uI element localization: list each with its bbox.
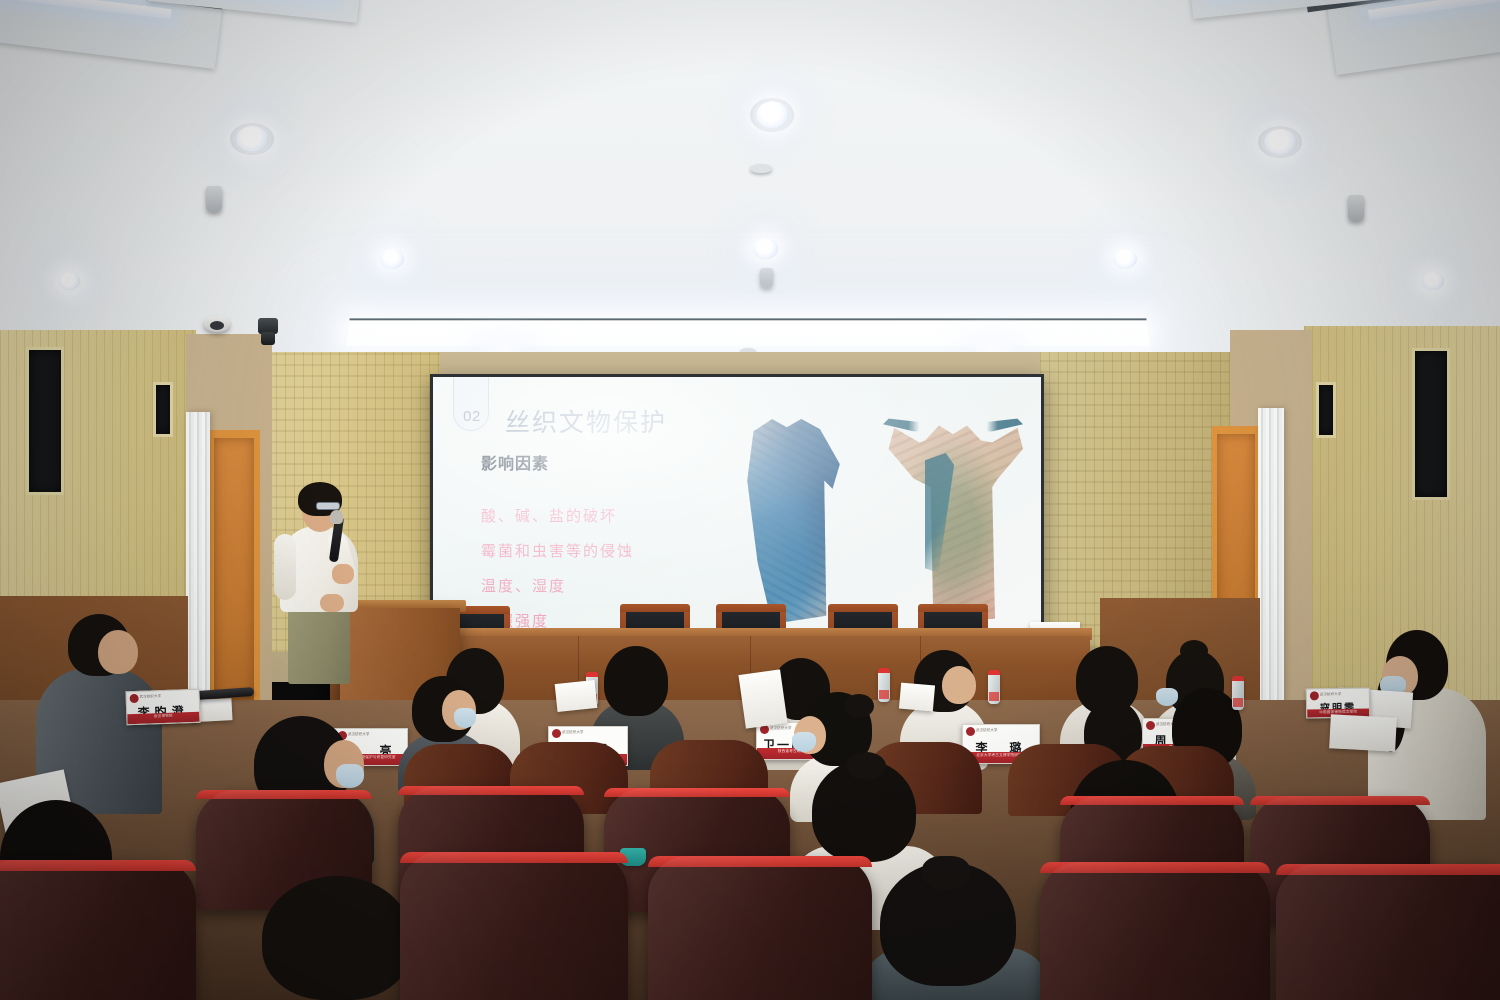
placard-4-logo-mark bbox=[966, 727, 975, 736]
placard-2-logo-mark bbox=[552, 729, 561, 738]
projection-screen: 02 丝织文物保护 影响因素 酸、碱、盐的破坏 霉菌和虫害等的侵蚀 温度、湿度 … bbox=[430, 374, 1044, 634]
placard-3-logo-text: 武汉纺织大学 bbox=[770, 725, 792, 730]
audience-paper-1 bbox=[555, 680, 598, 712]
water-bottle-4[interactable] bbox=[1232, 676, 1244, 710]
attendee-b1-mask bbox=[454, 708, 476, 728]
attendee-b2-bun bbox=[844, 694, 874, 718]
blue-silk-robe-image bbox=[741, 419, 845, 624]
ceiling-downlight-6 bbox=[1113, 249, 1137, 269]
presenter-left-arm bbox=[274, 534, 296, 600]
acoustic-inset-right-small bbox=[1316, 382, 1336, 438]
attendee-front-center-ponytail bbox=[922, 856, 970, 890]
slide-title: 丝织文物保护 bbox=[505, 403, 667, 439]
ceiling-downlight-7 bbox=[58, 272, 80, 290]
auditorium-scene: 02 丝织文物保护 影响因素 酸、碱、盐的破坏 霉菌和虫害等的侵蚀 温度、湿度 … bbox=[0, 0, 1500, 1000]
seat-row3-3[interactable] bbox=[648, 856, 872, 1000]
smoke-detector-1 bbox=[750, 164, 772, 173]
presenter-trousers bbox=[288, 608, 350, 684]
attendee-c2-bun bbox=[846, 752, 886, 780]
ceiling-downlight-4 bbox=[380, 249, 404, 269]
ceiling-speaker-3 bbox=[760, 268, 773, 288]
presenter bbox=[272, 482, 368, 682]
slide-bullet-2: 霉菌和虫害等的侵蚀 bbox=[481, 540, 634, 561]
beige-silk-robe-image bbox=[883, 415, 1023, 627]
acoustic-inset-left-small bbox=[153, 382, 173, 437]
ceiling-downlight-1 bbox=[236, 126, 269, 152]
seat-row3-5[interactable] bbox=[1276, 864, 1500, 1000]
seat-row3-4[interactable] bbox=[1040, 862, 1270, 1000]
slide-section-number: 02 bbox=[458, 408, 486, 425]
water-bottle-3[interactable] bbox=[988, 670, 1000, 704]
ceiling-speaker-1 bbox=[206, 186, 222, 212]
acoustic-inset-left bbox=[26, 347, 64, 495]
attendee-b2-mask bbox=[792, 732, 816, 752]
placard-0-logo-text: 武汉纺织大学 bbox=[140, 693, 162, 699]
slide-bullet-1: 酸、碱、盐的破坏 bbox=[481, 505, 634, 526]
attendee-a4-head bbox=[942, 666, 976, 704]
presenter-glasses bbox=[316, 502, 340, 510]
placard-0-logo-mark bbox=[130, 694, 139, 703]
attendee-front-center bbox=[862, 862, 1052, 1000]
microphone-head bbox=[330, 510, 343, 524]
placard-2-logo-text: 武汉纺织大学 bbox=[562, 729, 584, 734]
placard-0: 武汉纺织大学 李昀澄 故宫博物院 bbox=[125, 689, 200, 726]
placard-6-logo-text: 武汉纺织大学 bbox=[1320, 691, 1342, 696]
rectangular-led-panel bbox=[346, 318, 1149, 345]
attendee-c1-mask bbox=[336, 764, 364, 788]
placard-4-logo-text: 武汉纺织大学 bbox=[976, 727, 998, 732]
audience-paper-5 bbox=[1329, 714, 1397, 751]
seat-row3-1[interactable] bbox=[0, 860, 196, 1000]
attendee-b3-ponytail bbox=[1094, 692, 1120, 714]
attendee-front-left-hair bbox=[262, 876, 412, 1000]
audience-paper-3 bbox=[738, 669, 787, 728]
acoustic-inset-right bbox=[1412, 348, 1450, 500]
ptz-camera bbox=[258, 318, 278, 346]
left-doorway[interactable] bbox=[214, 438, 254, 702]
attendee-a6-bun bbox=[1180, 640, 1208, 662]
ceiling-downlight-3 bbox=[1264, 129, 1297, 155]
ceiling-downlight-2 bbox=[756, 101, 789, 129]
slide-bullet-3: 温度、湿度 bbox=[481, 575, 634, 596]
ceiling-downlight-8 bbox=[1422, 272, 1444, 290]
attendee-a2-hair bbox=[604, 646, 668, 716]
pilaster-left bbox=[186, 412, 210, 712]
placard-0-org: 故宫博物院 bbox=[127, 712, 199, 724]
ceiling-speaker-2 bbox=[1348, 195, 1364, 221]
audience-paper-2 bbox=[899, 683, 935, 712]
pilaster-right bbox=[1258, 408, 1284, 708]
attendee-left-desk-head bbox=[98, 630, 138, 674]
seat-row3-2[interactable] bbox=[400, 852, 628, 1000]
slide-subheading: 影响因素 bbox=[481, 450, 549, 474]
dome-camera bbox=[204, 316, 230, 332]
presentation-slide: 02 丝织文物保护 影响因素 酸、碱、盐的破坏 霉菌和虫害等的侵蚀 温度、湿度 … bbox=[433, 377, 1041, 631]
ceiling-downlight-5 bbox=[753, 238, 778, 259]
presenter-right-hand bbox=[332, 564, 354, 584]
presenter-left-hand bbox=[320, 594, 344, 612]
